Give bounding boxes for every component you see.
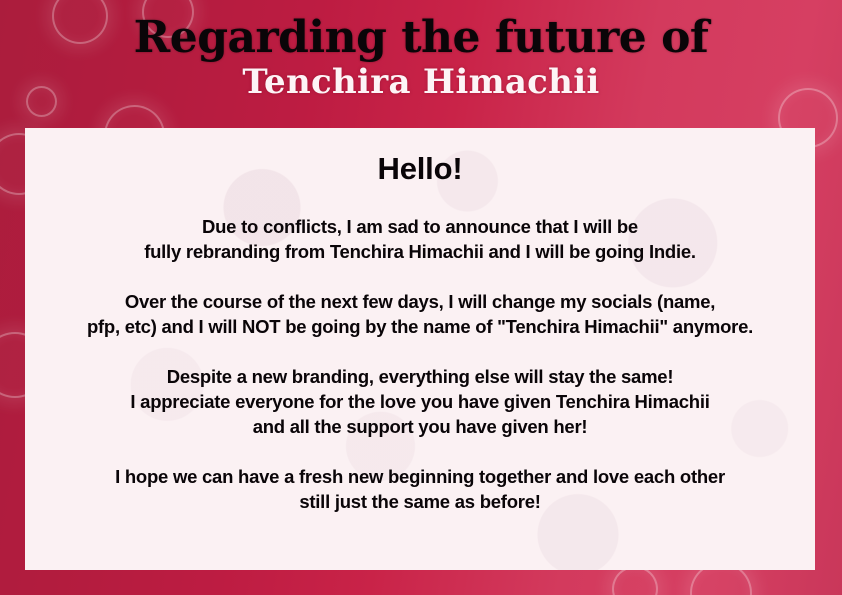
- paragraph-spacer: [25, 439, 815, 464]
- announcement-line: fully rebranding from Tenchira Himachii …: [25, 239, 815, 264]
- bubble-bottom-1: [612, 566, 658, 595]
- announcement-paragraph: Over the course of the next few days, I …: [25, 289, 815, 339]
- paragraph-spacer: [25, 264, 815, 289]
- announcement-line: pfp, etc) and I will NOT be going by the…: [25, 314, 815, 339]
- announcement-line: Due to conflicts, I am sad to announce t…: [25, 214, 815, 239]
- announcement-paragraph: Due to conflicts, I am sad to announce t…: [25, 214, 815, 264]
- announcement-line: Over the course of the next few days, I …: [25, 289, 815, 314]
- page-title-line-1: Regarding the future of: [0, 0, 842, 62]
- announcement-header: Regarding the future of Tenchira Himachi…: [0, 0, 842, 128]
- announcement-line: Despite a new branding, everything else …: [25, 364, 815, 389]
- announcement-paragraph: Despite a new branding, everything else …: [25, 364, 815, 439]
- announcement-body: Due to conflicts, I am sad to announce t…: [25, 214, 815, 514]
- paragraph-spacer: [25, 339, 815, 364]
- announcement-line: still just the same as before!: [25, 489, 815, 514]
- announcement-paragraph: I hope we can have a fresh new beginning…: [25, 464, 815, 514]
- greeting-heading: Hello!: [25, 150, 815, 187]
- announcement-line: I hope we can have a fresh new beginning…: [25, 464, 815, 489]
- page-title-line-2: Tenchira Himachii: [0, 62, 842, 101]
- announcement-content-card: Hello! Due to conflicts, I am sad to ann…: [25, 128, 815, 570]
- announcement-line: I appreciate everyone for the love you h…: [25, 389, 815, 414]
- card-content: Hello! Due to conflicts, I am sad to ann…: [25, 128, 815, 514]
- announcement-card-canvas: Regarding the future of Tenchira Himachi…: [0, 0, 842, 595]
- announcement-line: and all the support you have given her!: [25, 414, 815, 439]
